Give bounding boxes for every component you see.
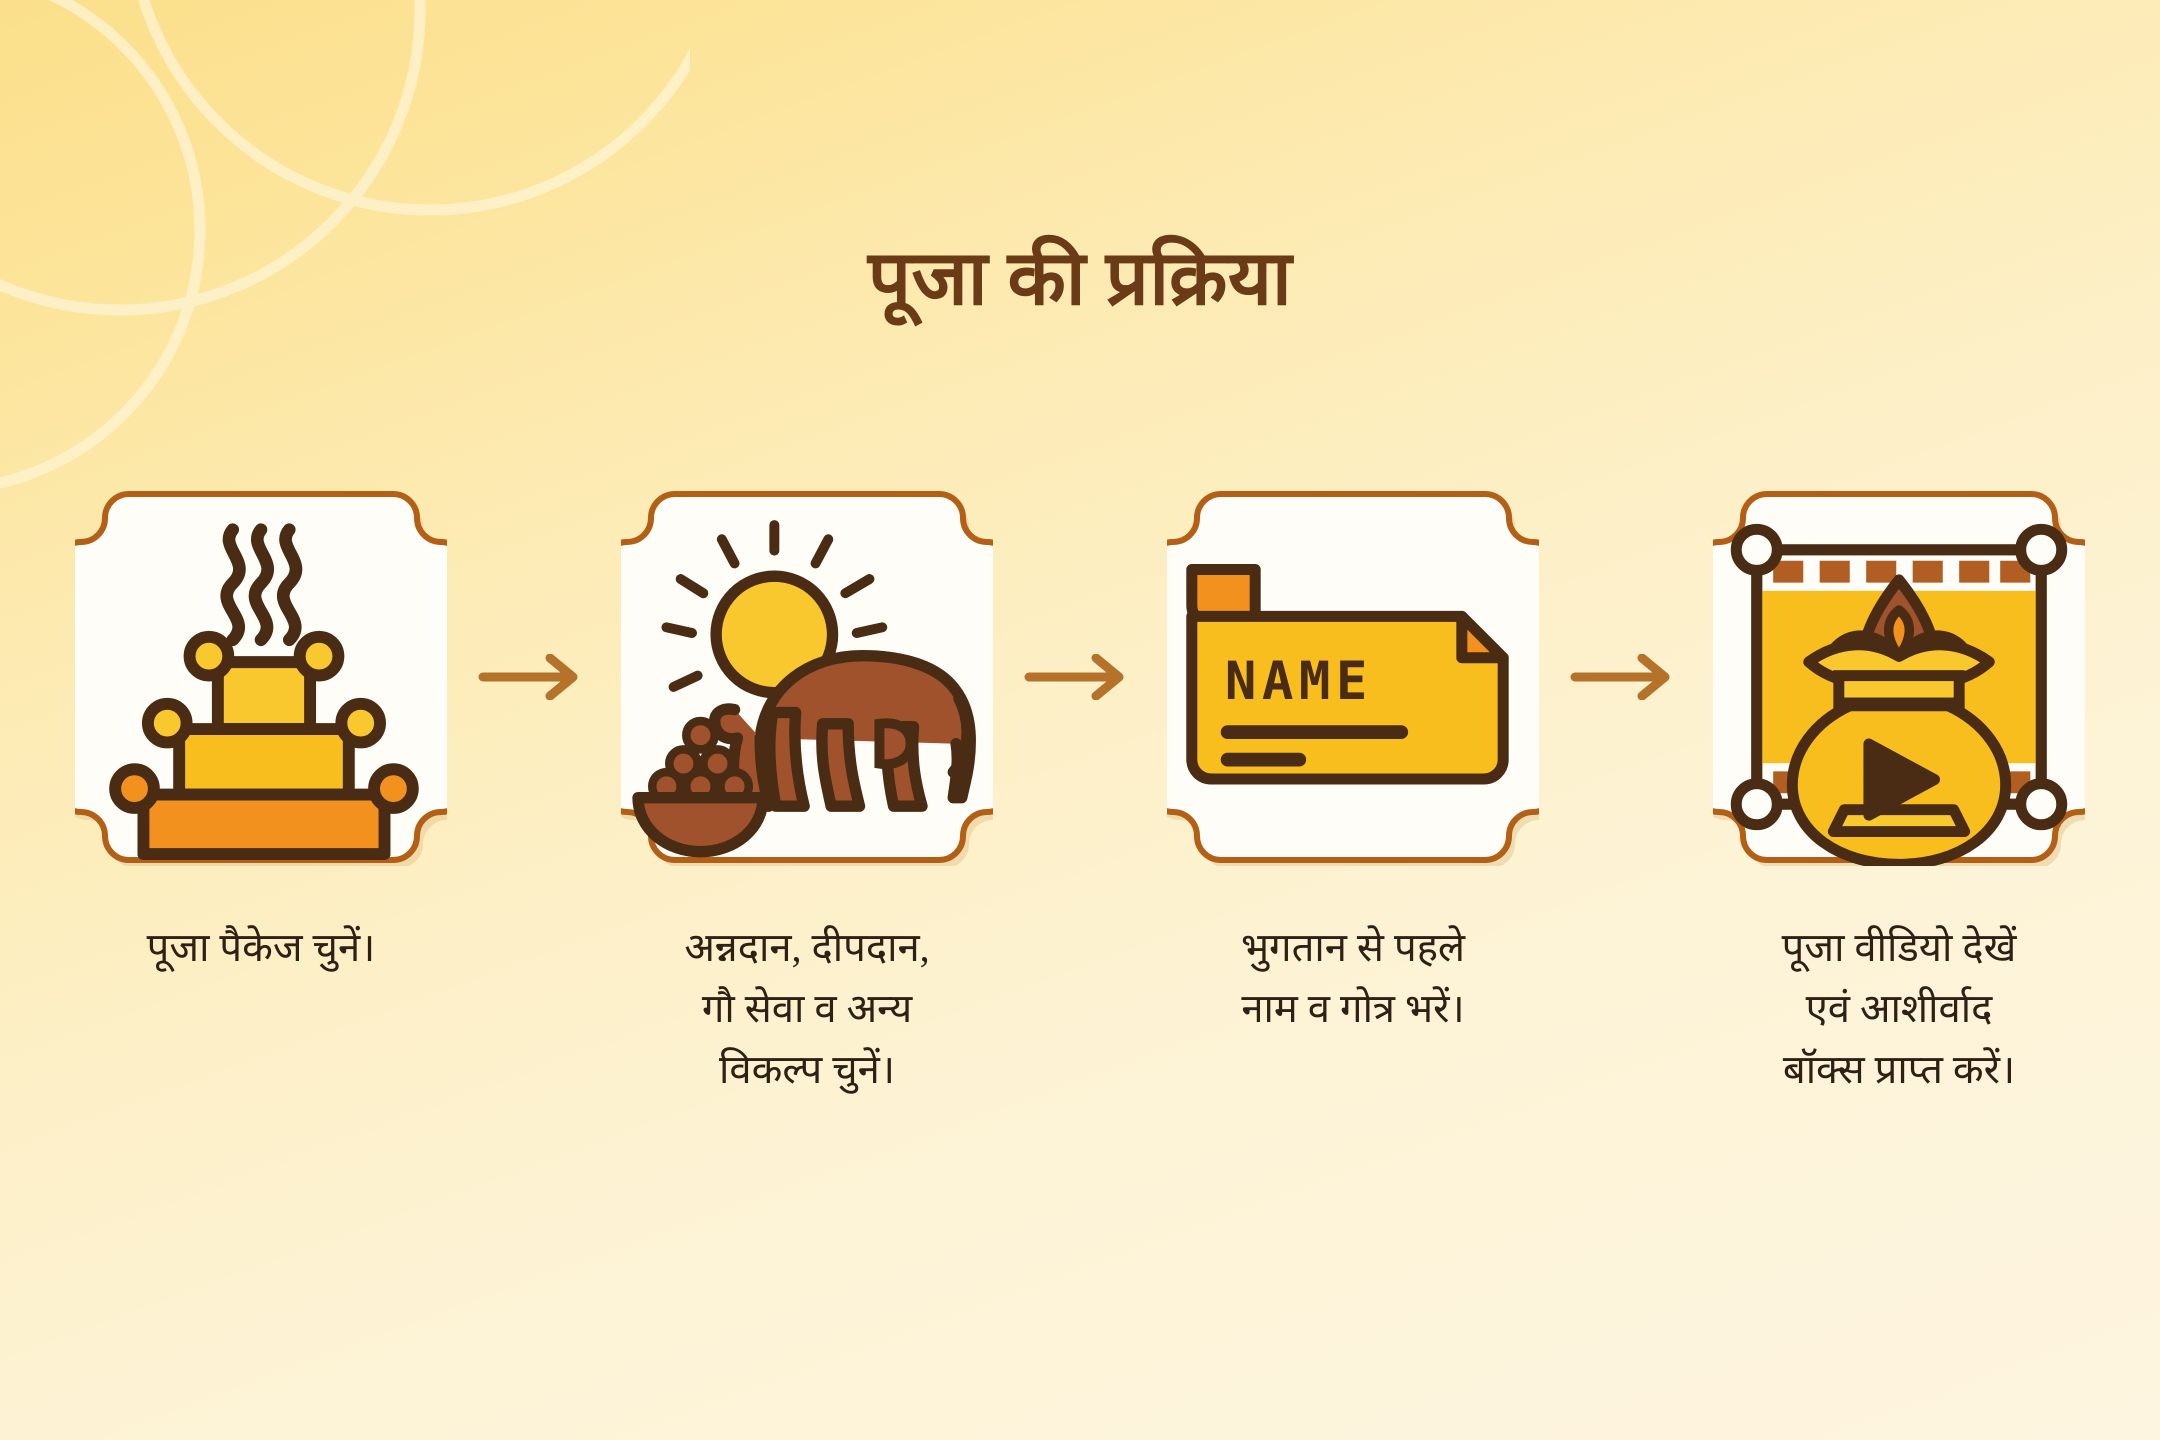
page-title: पूजा की प्रक्रिया (0, 238, 2160, 320)
infographic-canvas: पूजा की प्रक्रिया (0, 0, 2160, 1440)
process-steps: पूजा पैकेज चुनें। (0, 488, 2160, 1100)
step-2[interactable]: अन्नदान, दीपदान, गौ सेवा व अन्य विकल्प च… (621, 488, 993, 1100)
step-1-card[interactable] (75, 488, 447, 866)
step-arrow-3 (1539, 488, 1713, 866)
step-2-card[interactable] (621, 488, 993, 866)
step-1-caption: पूजा पैकेज चुनें। (51, 918, 471, 979)
name-card-icon: NAME (1167, 488, 1539, 866)
step-3-card[interactable]: NAME (1167, 488, 1539, 866)
step-arrow-2 (993, 488, 1167, 866)
step-3[interactable]: NAME भुगतान से पहले नाम व गोत्र भरें। (1167, 488, 1539, 1040)
step-1[interactable]: पूजा पैकेज चुनें। (75, 488, 447, 979)
step-2-caption: अन्नदान, दीपदान, गौ सेवा व अन्य विकल्प च… (597, 918, 1017, 1100)
cow-seva-icon (621, 488, 993, 866)
name-card-label: NAME (1225, 651, 1373, 712)
step-3-caption: भुगतान से पहले नाम व गोत्र भरें। (1143, 918, 1563, 1040)
step-4-card[interactable] (1713, 488, 2085, 866)
puja-video-kalash-icon (1713, 488, 2085, 866)
puja-altar-icon (75, 488, 447, 866)
step-4-caption: पूजा वीडियो देखें एवं आशीर्वाद बॉक्स प्र… (1689, 918, 2109, 1100)
step-arrow-1 (447, 488, 621, 866)
step-4[interactable]: पूजा वीडियो देखें एवं आशीर्वाद बॉक्स प्र… (1713, 488, 2085, 1100)
